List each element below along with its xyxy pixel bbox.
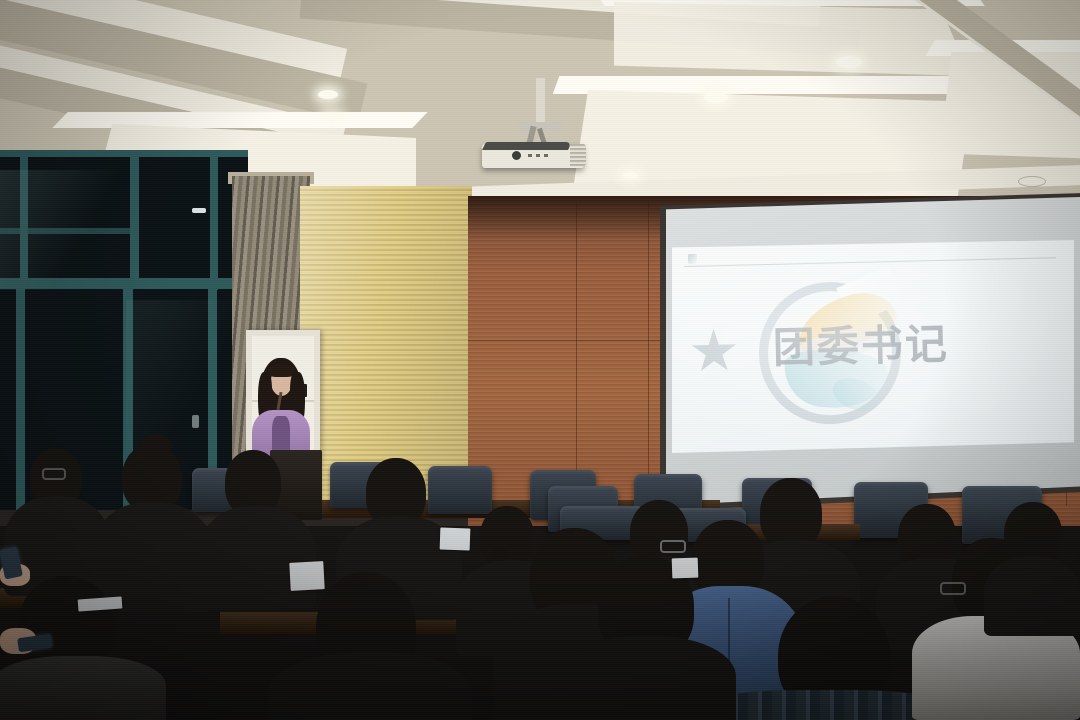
- five-pointed-star-icon: [690, 328, 737, 375]
- glasses-icon-2: [940, 582, 966, 595]
- wood-wall-seam-h: [468, 340, 668, 341]
- audience-body-r1: [556, 636, 736, 720]
- handout-paper-3[interactable]: [672, 558, 699, 579]
- projector-pole: [536, 78, 545, 126]
- audience-body-r2: [984, 556, 1080, 636]
- downlight-2: [323, 112, 341, 117]
- exit-sign-glow: [192, 415, 199, 428]
- audience-body-m1: [268, 652, 472, 720]
- projector-vent: [570, 144, 586, 166]
- seat-back-2: [428, 466, 492, 514]
- handout-paper-2[interactable]: [440, 527, 471, 550]
- ceiling-projector: [478, 78, 588, 168]
- glasses-icon-1: [660, 540, 686, 553]
- downlight-7: [1018, 176, 1046, 187]
- projector-top-cover: [482, 142, 572, 150]
- window-glint: [192, 208, 206, 213]
- projector-led-2: [536, 154, 540, 157]
- ceiling-coffer-right-upper: [600, 0, 980, 76]
- auditorium-photo: 团委书记: [0, 0, 1080, 720]
- slide-corner-mark: [688, 254, 697, 264]
- downlight-3: [704, 92, 728, 103]
- wood-wall-seam-2: [648, 200, 649, 510]
- projector-led-1: [528, 154, 532, 157]
- audience-bun-b2: [140, 434, 172, 458]
- wood-wall-seam-1: [576, 200, 577, 510]
- downlight-5: [623, 172, 638, 179]
- audience-body-b3: [198, 506, 316, 610]
- blind-wall-shading: [300, 186, 472, 506]
- downlight-1: [318, 90, 338, 99]
- projector-led-3: [544, 154, 548, 157]
- projector-lens: [512, 151, 521, 160]
- audience-body-b2: [92, 502, 214, 612]
- handout-paper-1[interactable]: [289, 561, 324, 591]
- slide-heading: 团委书记: [772, 321, 953, 371]
- glasses-icon-3: [42, 468, 66, 480]
- slide-logo: 团委书记: [743, 274, 926, 430]
- slide-content: 团委书记: [672, 240, 1074, 453]
- grey-hoodie-attendee: [0, 656, 166, 720]
- downlight-4: [836, 56, 862, 68]
